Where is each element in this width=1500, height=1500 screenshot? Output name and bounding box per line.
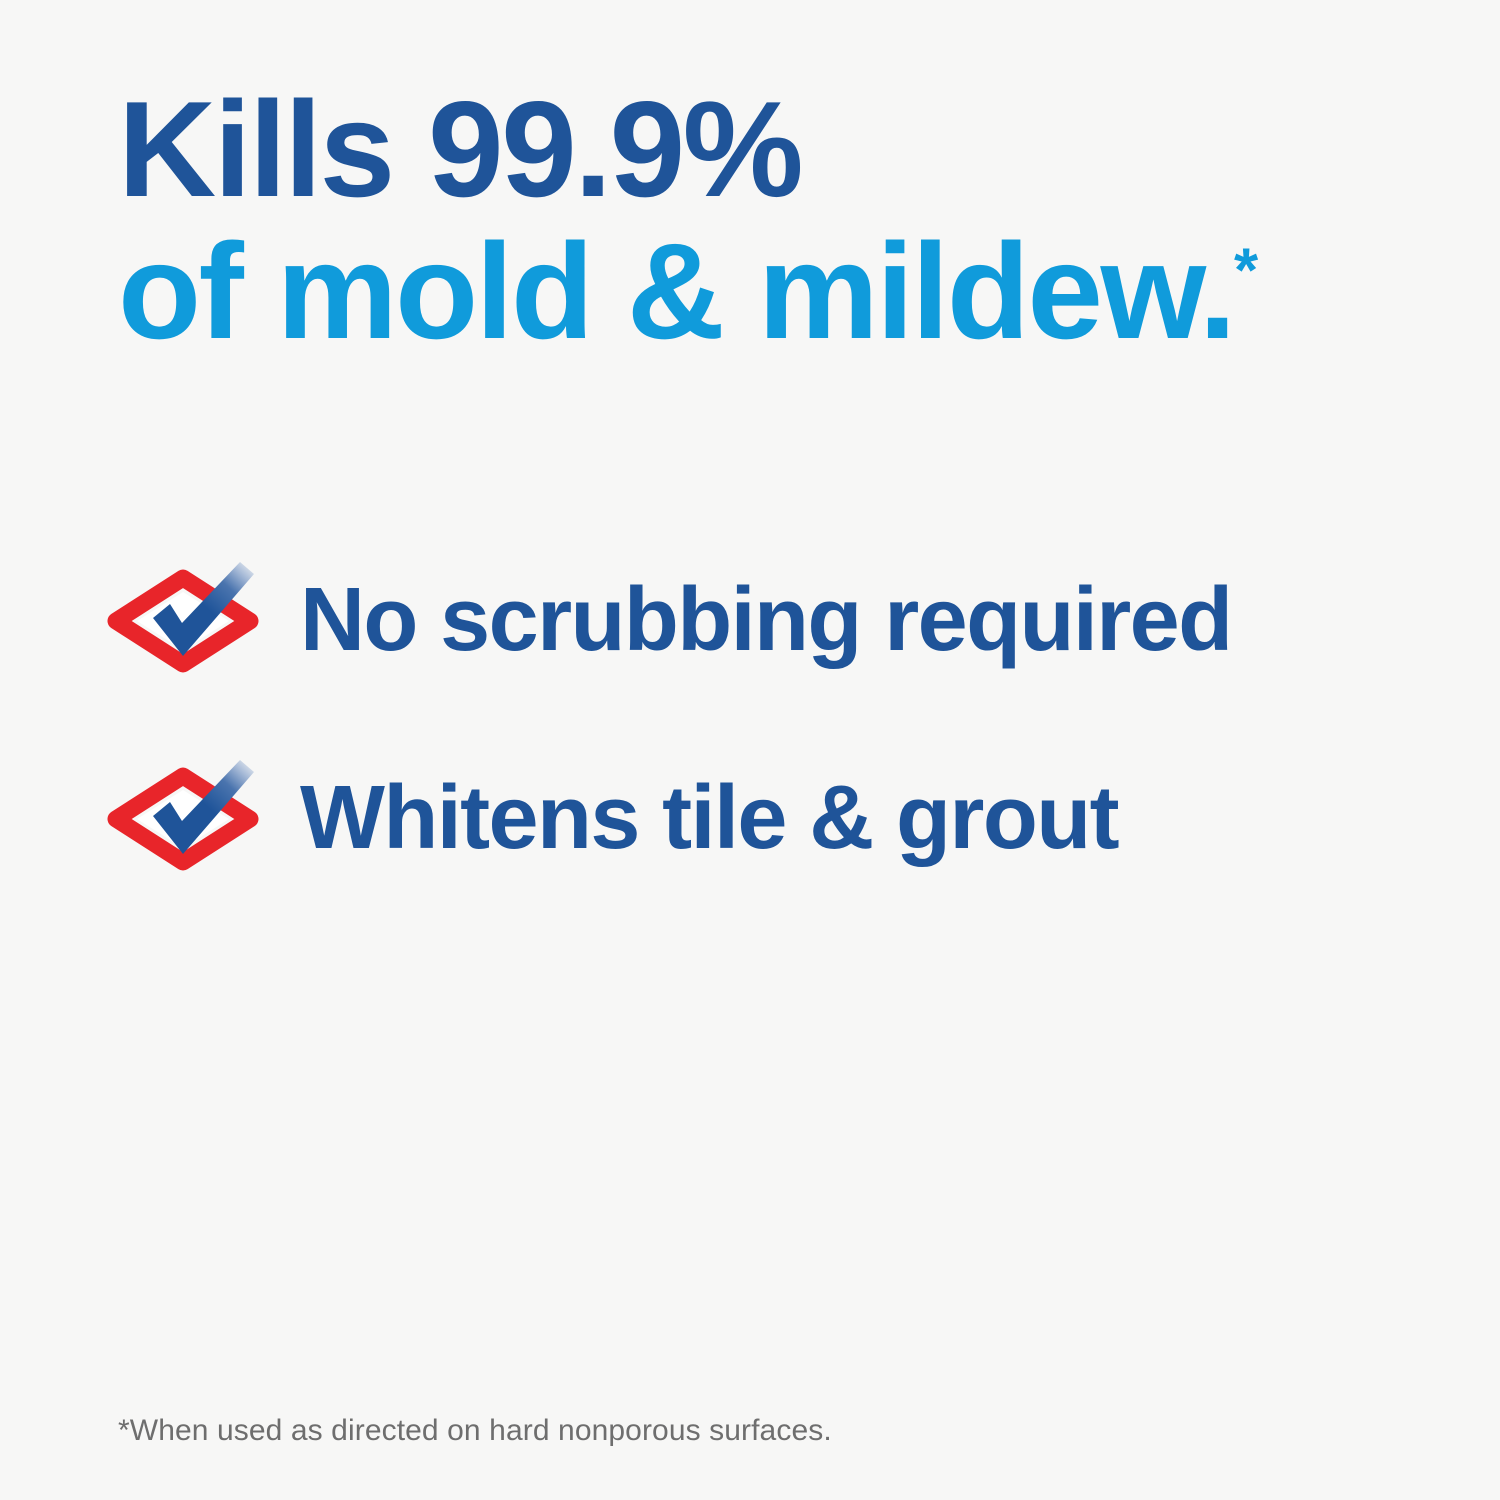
- headline-line-1: Kills 99.9%: [118, 78, 1418, 220]
- headline-line-2-text: of mold & mildew.: [118, 215, 1234, 367]
- headline-block: Kills 99.9% of mold & mildew.*: [118, 78, 1418, 362]
- benefit-label: Whitens tile & grout: [300, 770, 1118, 866]
- benefit-list: No scrubbing required: [112, 545, 1432, 941]
- benefit-label: No scrubbing required: [300, 572, 1231, 668]
- legal-footnote: *When used as directed on hard nonporous…: [118, 1412, 832, 1450]
- headline-line-2: of mold & mildew.*: [118, 220, 1418, 362]
- product-claim-poster: Kills 99.9% of mold & mildew.*: [0, 0, 1500, 1500]
- footnote-marker-asterisk: *: [1234, 237, 1258, 306]
- benefit-row: Whitens tile & grout: [112, 743, 1432, 893]
- clorox-diamond-check-icon: [112, 758, 272, 878]
- clorox-diamond-check-icon: [112, 560, 272, 680]
- benefit-row: No scrubbing required: [112, 545, 1432, 695]
